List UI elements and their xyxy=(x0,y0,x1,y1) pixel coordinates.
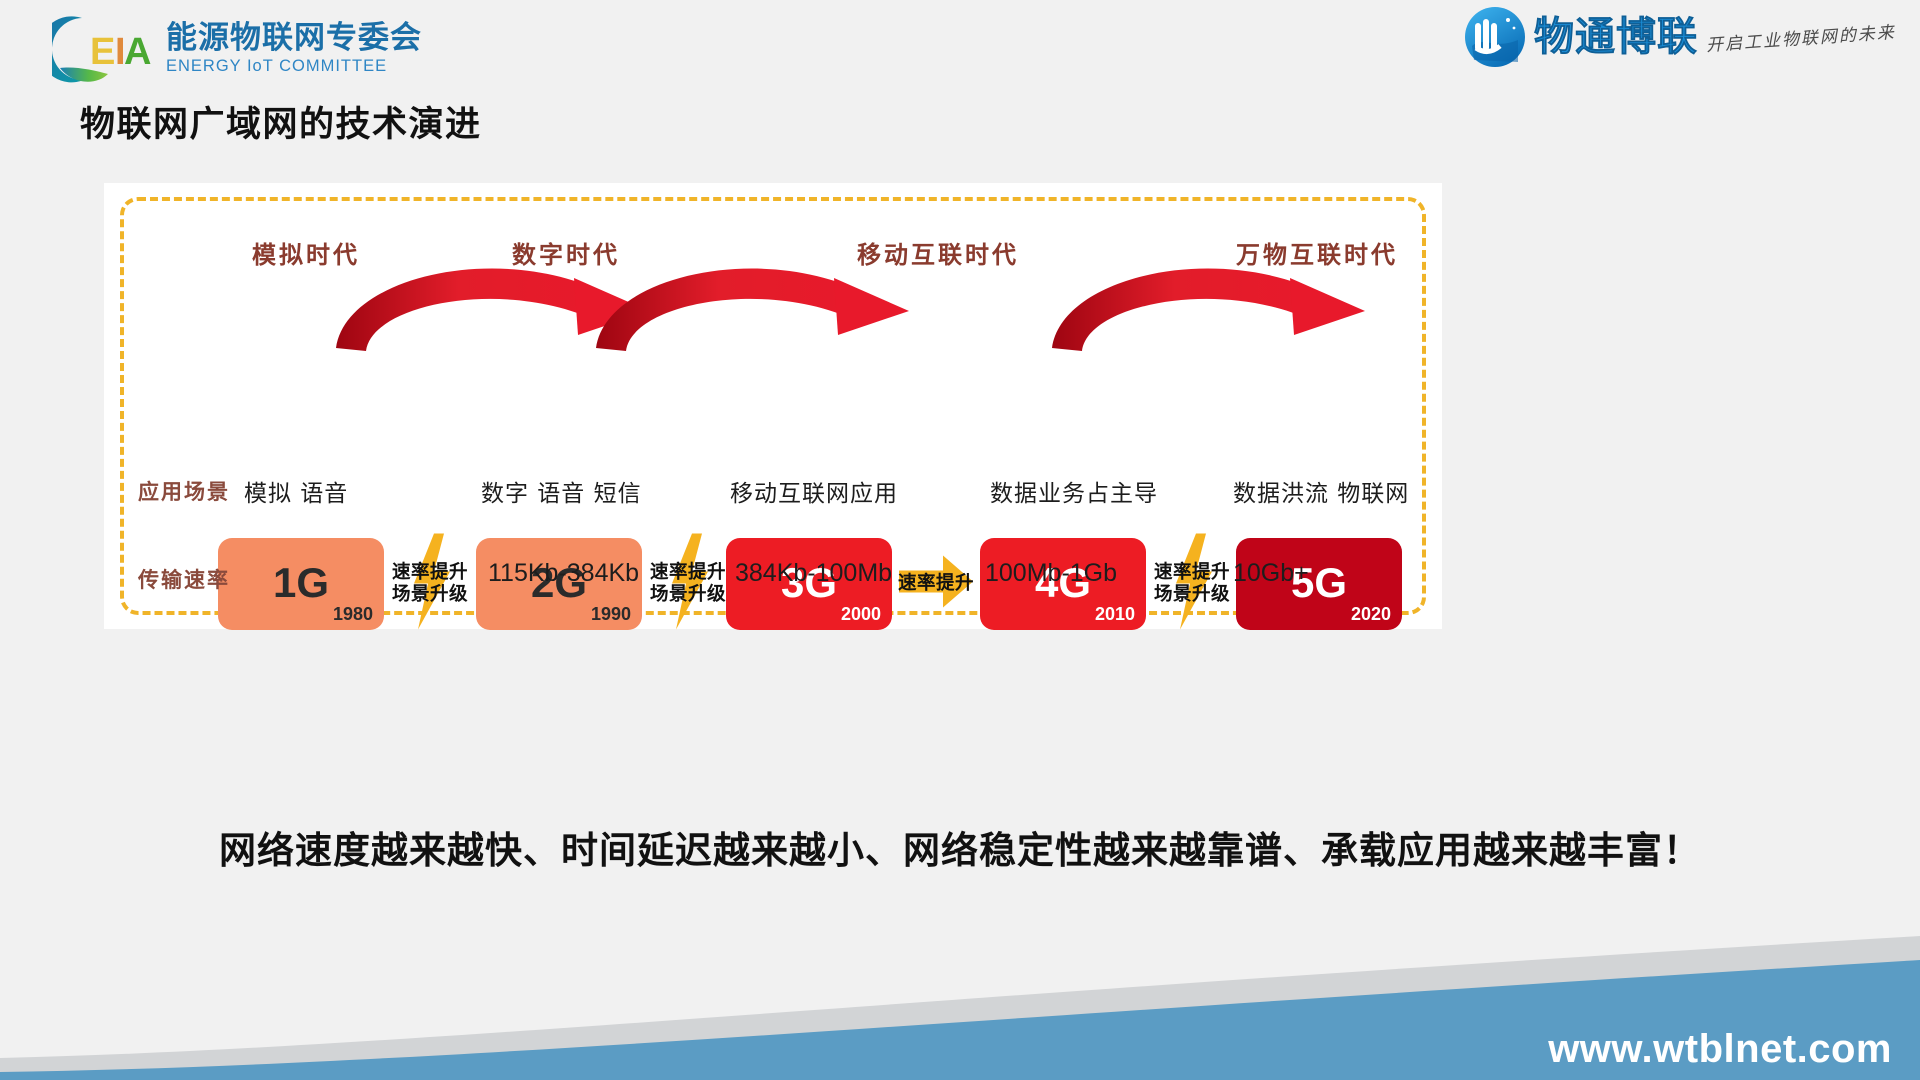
slide-footer: www.wtblnet.com xyxy=(0,920,1920,1080)
slide-header: E I A 能源物联网专委会 ENERGY IoT COMMITTEE xyxy=(0,0,1920,96)
generation-year-5g: 2020 xyxy=(1351,604,1391,625)
era-label-iot: 万物互联时代 xyxy=(1236,235,1398,270)
cell-scenario-2g: 数字 语音 短信 xyxy=(481,474,642,508)
connector-4g-5g: 速率提升 场景升级 xyxy=(1146,538,1238,630)
svg-text:E: E xyxy=(90,31,115,73)
connector-text-2g-3g: 速率提升 场景升级 xyxy=(650,562,726,606)
connector-text-3g-4g: 速率提升 xyxy=(898,573,974,595)
wtbl-globe-icon xyxy=(1464,6,1526,68)
cell-scenario-4g: 数据业务占主导 xyxy=(990,474,1158,508)
cell-scenario-3g: 移动互联网应用 xyxy=(730,474,898,508)
connector-line-1: 速率提升 xyxy=(1154,562,1230,584)
connector-line-2: 场景升级 xyxy=(650,584,726,606)
wtbl-logo-slogan: 开启工业物联网的未来 xyxy=(1705,17,1896,55)
connector-1g-2g: 速率提升 场景升级 xyxy=(384,538,476,630)
era-label-mobile-internet: 移动互联时代 xyxy=(857,235,1019,270)
diagram-panel: 模拟时代 数字时代 移动互联时代 万物互联时代 1G 1980 2G 1990 … xyxy=(104,183,1442,629)
connector-line-1: 速率提升 xyxy=(898,573,974,595)
generation-year-3g: 2000 xyxy=(841,604,881,625)
row-label-transmission-rate: 传输速率 xyxy=(138,564,230,594)
generation-year-2g: 1990 xyxy=(591,604,631,625)
footer-website-url[interactable]: www.wtblnet.com xyxy=(1548,1027,1892,1072)
cell-rate-2g: 115Kb-384Kb xyxy=(488,559,639,588)
svg-text:A: A xyxy=(124,31,151,73)
connector-line-2: 场景升级 xyxy=(392,584,468,606)
cell-rate-4g: 100Mb-1Gb xyxy=(985,559,1117,588)
connector-text-4g-5g: 速率提升 场景升级 xyxy=(1154,562,1230,606)
summary-caption: 网络速度越来越快、时间延迟越来越小、网络稳定性越来越靠谱、承载应用越来越丰富！ xyxy=(0,820,1920,874)
row-label-application-scenario: 应用场景 xyxy=(138,476,230,506)
cell-rate-3g: 384Kb-100Mb xyxy=(735,559,892,588)
generation-year-4g: 2010 xyxy=(1095,604,1135,625)
eia-emblem-icon: E I A xyxy=(52,8,162,90)
generation-year-1g: 1980 xyxy=(333,604,373,625)
connector-2g-3g: 速率提升 场景升级 xyxy=(642,538,734,630)
connector-text-1g-2g: 速率提升 场景升级 xyxy=(392,562,468,606)
arrow-4g-to-5g xyxy=(1052,269,1365,351)
cell-scenario-1g: 模拟 语音 xyxy=(244,474,348,508)
era-label-analog: 模拟时代 xyxy=(252,235,360,270)
wtbl-logo: 物通博联 开启工业物联网的未来 xyxy=(1464,6,1896,68)
generation-name-1g: 1G xyxy=(218,559,384,607)
cell-scenario-5g: 数据洪流 物联网 xyxy=(1233,474,1409,508)
era-label-digital: 数字时代 xyxy=(512,235,620,270)
arrow-2g-to-3g xyxy=(596,269,909,351)
cell-rate-5g: 10Gb+ xyxy=(1233,559,1309,588)
eia-logo: E I A 能源物联网专委会 ENERGY IoT COMMITTEE xyxy=(52,8,422,90)
connector-line-1: 速率提升 xyxy=(650,562,726,584)
connector-3g-4g: 速率提升 xyxy=(892,538,980,630)
connector-line-2: 场景升级 xyxy=(1154,584,1230,606)
connector-line-1: 速率提升 xyxy=(392,562,468,584)
wtbl-logo-cn-name: 物通博联 xyxy=(1534,17,1698,57)
eia-logo-cn-name: 能源物联网专委会 xyxy=(166,22,422,55)
page-title: 物联网广域网的技术演进 xyxy=(80,96,482,147)
generation-box-1g[interactable]: 1G 1980 xyxy=(218,538,384,630)
eia-logo-en-name: ENERGY IoT COMMITTEE xyxy=(166,57,422,76)
slide-root: E I A 能源物联网专委会 ENERGY IoT COMMITTEE xyxy=(0,0,1920,1080)
